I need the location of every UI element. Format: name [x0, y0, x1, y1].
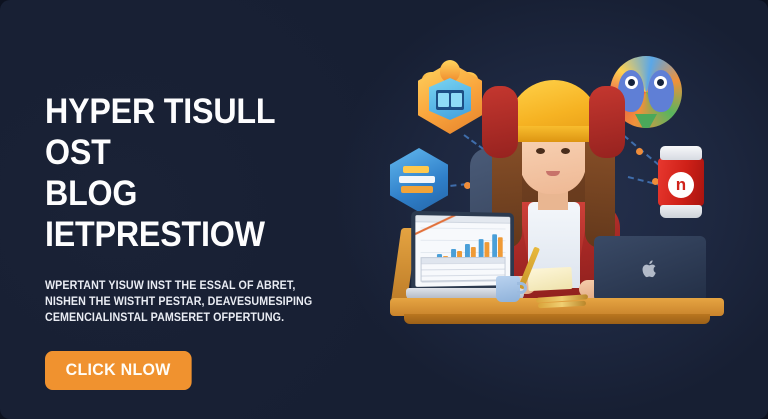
arm-left	[482, 86, 518, 158]
spreadsheet-table	[421, 257, 506, 282]
copy-block: HYPER TISULL OST BLOG IETPRESTIOW WPERTA…	[45, 92, 375, 390]
desk-edge	[404, 314, 710, 324]
parrot-eye-left	[625, 76, 638, 89]
connector-dot-3	[636, 148, 643, 155]
eye-right	[561, 148, 570, 154]
layers-hex-icon	[390, 148, 448, 212]
promo-banner: HYPER TISULL OST BLOG IETPRESTIOW WPERTA…	[0, 0, 768, 419]
parrot-eye-right	[654, 76, 667, 89]
eye-left	[536, 148, 545, 154]
notepad	[527, 267, 572, 291]
table-row	[422, 275, 505, 282]
coffee-mug	[496, 276, 520, 302]
badge-book-glyph	[436, 90, 464, 110]
layer-bar-middle	[399, 176, 435, 183]
subcopy-text: WPERTANT YISUW INST THE ESSAL OF ABRET, …	[45, 278, 352, 327]
page-title: HYPER TISULL OST BLOG IETPRESTIOW	[45, 92, 349, 256]
mouth	[546, 171, 560, 176]
jar-logo-glyph: n	[668, 172, 694, 198]
parrot-beak	[635, 114, 657, 128]
apple-logo-icon	[642, 259, 659, 279]
jar-base	[660, 205, 702, 218]
book-badge-icon	[418, 62, 482, 134]
jar-lid	[660, 146, 702, 160]
layer-bar-bottom	[401, 186, 433, 193]
apple-laptop-lid	[594, 236, 706, 302]
click-now-button[interactable]: CLICK NLOW	[45, 351, 191, 390]
layer-bar-top	[403, 166, 429, 173]
arm-right	[589, 86, 625, 158]
illustration: n	[378, 0, 768, 419]
red-jar-icon: n	[658, 146, 704, 218]
